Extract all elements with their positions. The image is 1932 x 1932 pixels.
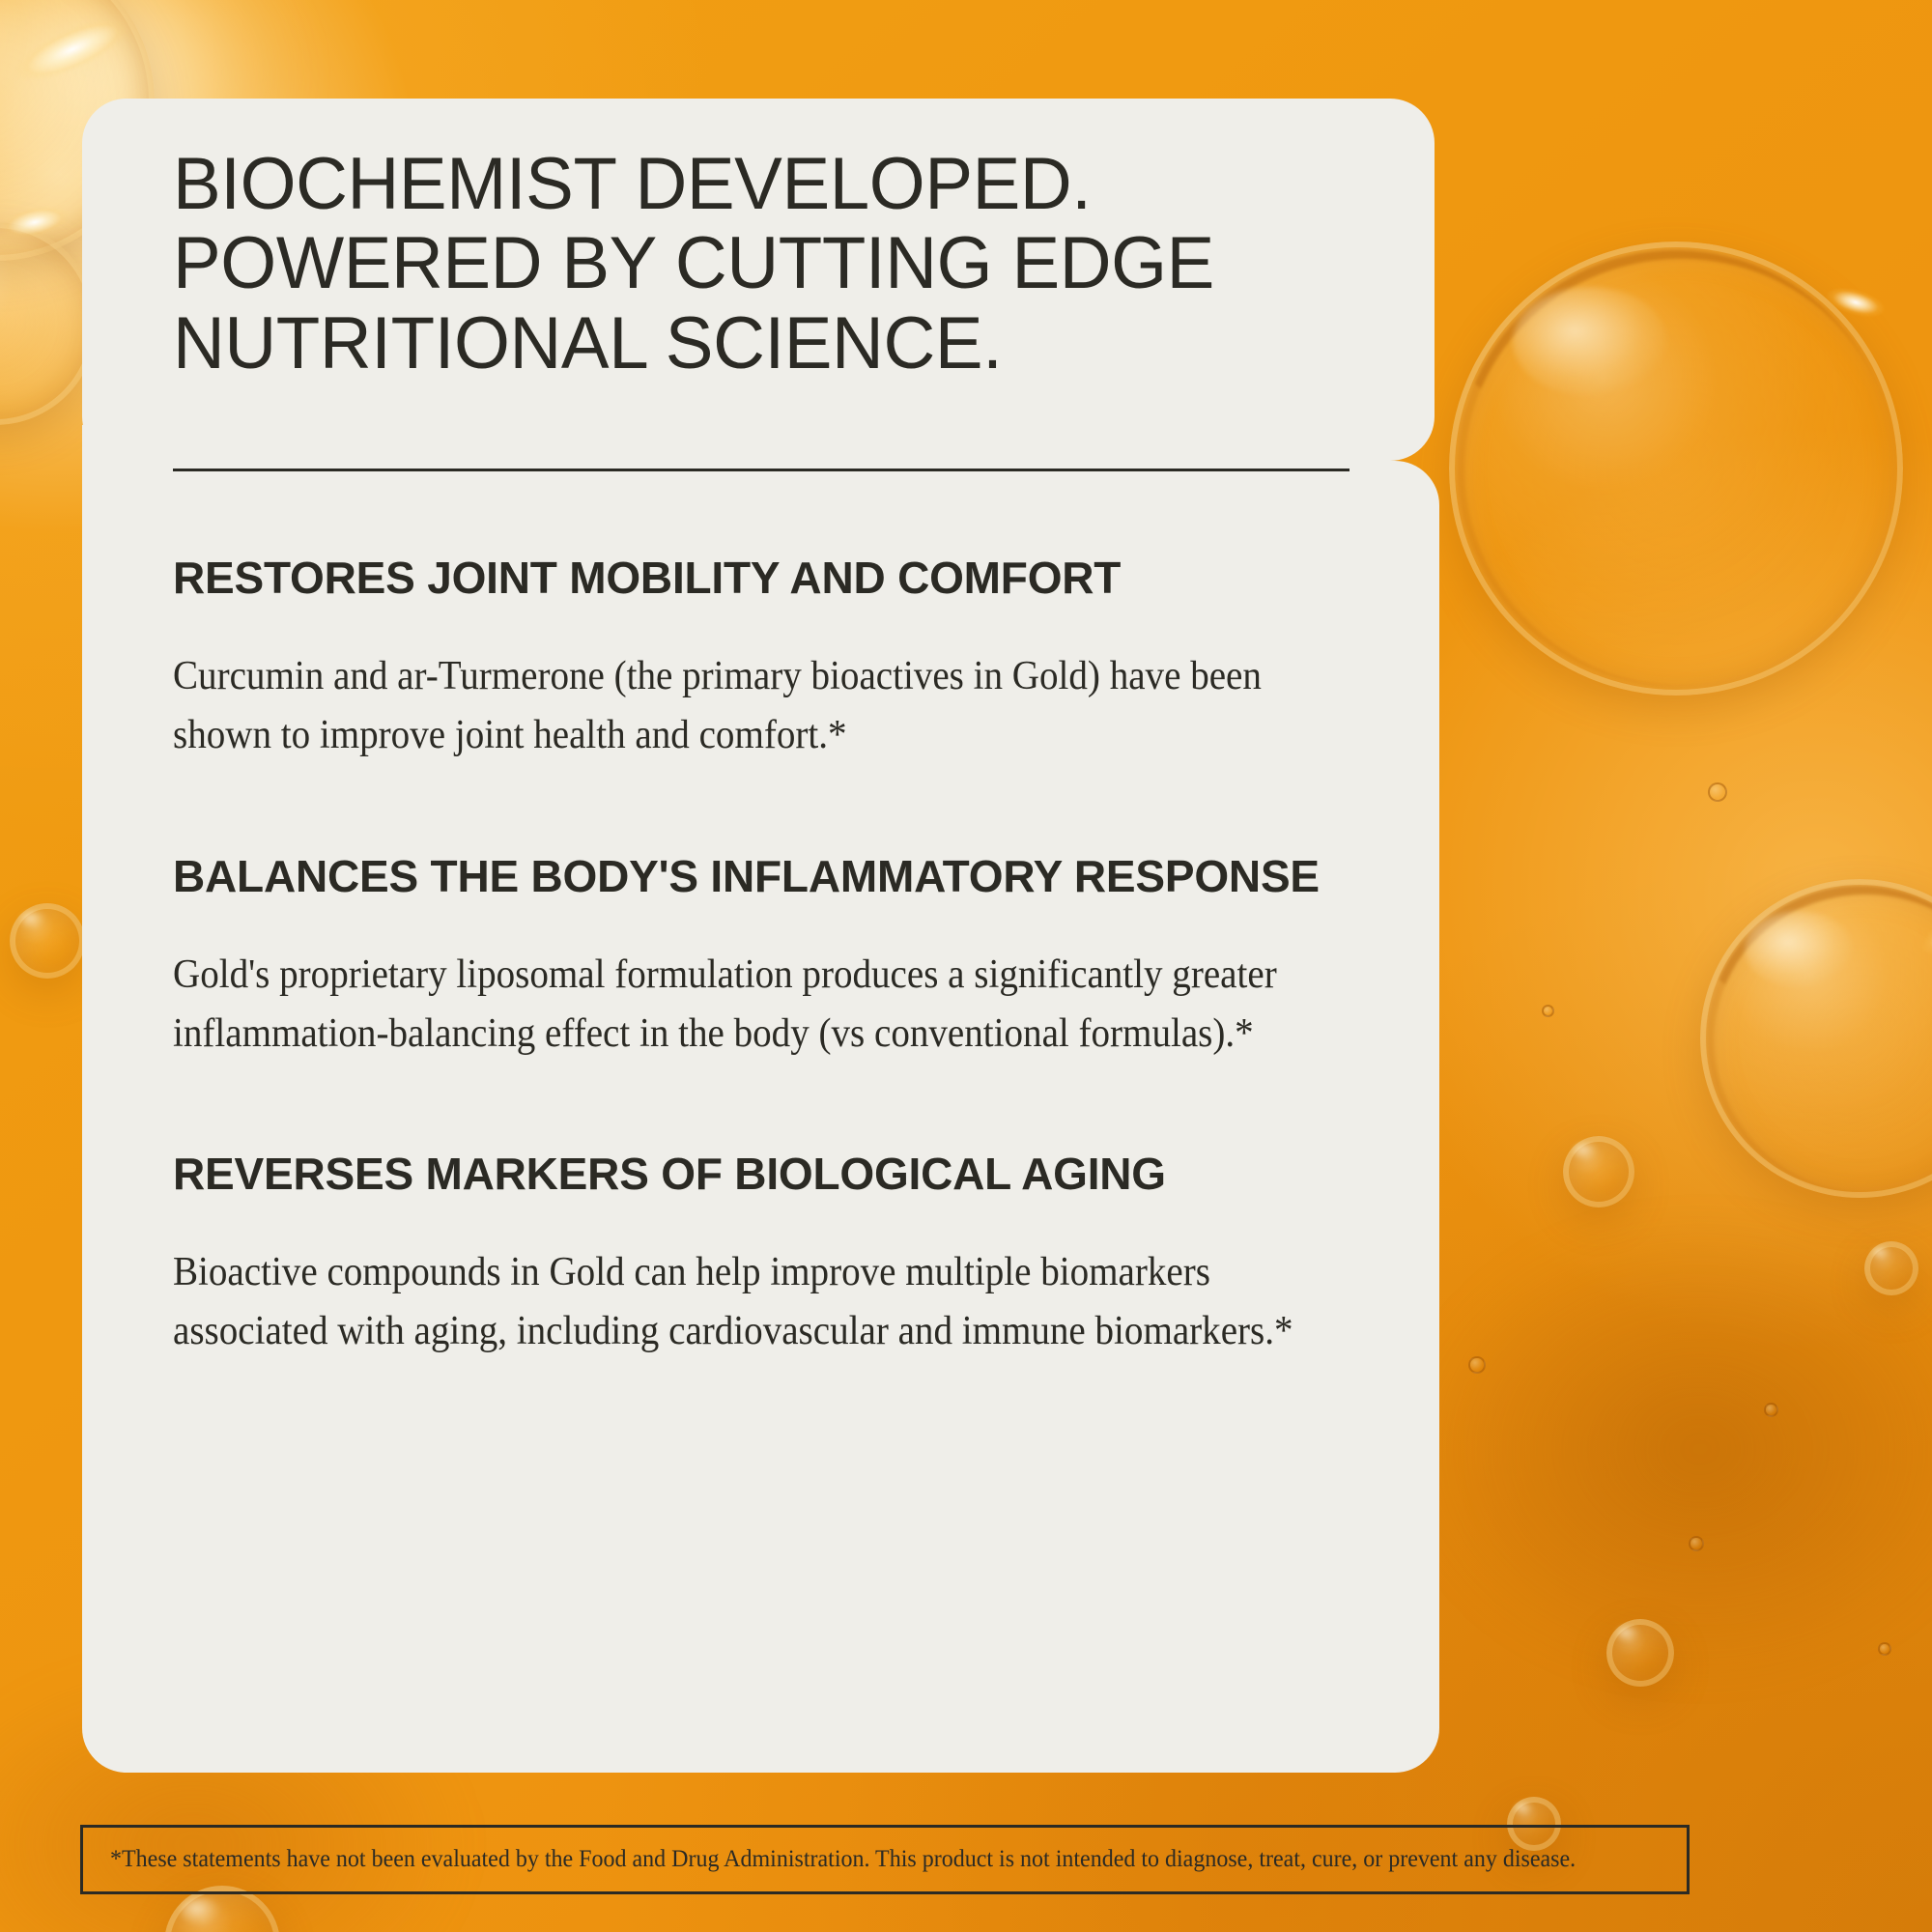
claim-section: RESTORES JOINT MOBILITY AND COMFORT Curc… — [173, 551, 1361, 766]
fda-disclaimer-box: *These statements have not been evaluate… — [80, 1825, 1690, 1894]
claim-body: Curcumin and ar-Turmerone (the primary b… — [173, 647, 1355, 766]
claim-section: BALANCES THE BODY'S INFLAMMATORY RESPONS… — [173, 849, 1361, 1065]
oil-bubble-upper-right — [1449, 241, 1903, 696]
micro-bubble-5 — [1878, 1642, 1891, 1656]
micro-bubble-2 — [1468, 1356, 1486, 1374]
micro-bubble-6 — [1542, 1005, 1554, 1017]
oil-bubble-lower-right-cluster-a — [1606, 1619, 1674, 1687]
claim-title: BALANCES THE BODY'S INFLAMMATORY RESPONS… — [173, 849, 1361, 905]
micro-bubble-4 — [1689, 1536, 1704, 1551]
oil-bubble-small-left — [10, 903, 85, 979]
oil-bubble-small-lower-right — [1563, 1136, 1634, 1207]
claim-body: Bioactive compounds in Gold can help imp… — [173, 1243, 1355, 1362]
micro-bubble-1 — [1708, 782, 1727, 802]
claims-list: RESTORES JOINT MOBILITY AND COMFORT Curc… — [173, 551, 1361, 1362]
claim-body: Gold's proprietary liposomal formulation… — [173, 946, 1355, 1065]
product-claims-poster: BIOCHEMIST DEVELOPED. POWERED BY CUTTING… — [0, 0, 1932, 1932]
claim-title: REVERSES MARKERS OF BIOLOGICAL AGING — [173, 1147, 1361, 1203]
claim-title: RESTORES JOINT MOBILITY AND COMFORT — [173, 551, 1361, 607]
page-title: BIOCHEMIST DEVELOPED. POWERED BY CUTTING… — [173, 145, 1347, 384]
micro-bubble-3 — [1764, 1403, 1778, 1417]
divider — [173, 469, 1350, 471]
claim-section: REVERSES MARKERS OF BIOLOGICAL AGING Bio… — [173, 1147, 1361, 1362]
fda-disclaimer-text: *These statements have not been evaluate… — [110, 1845, 1576, 1874]
oil-bubble-tiny-right — [1864, 1241, 1918, 1295]
